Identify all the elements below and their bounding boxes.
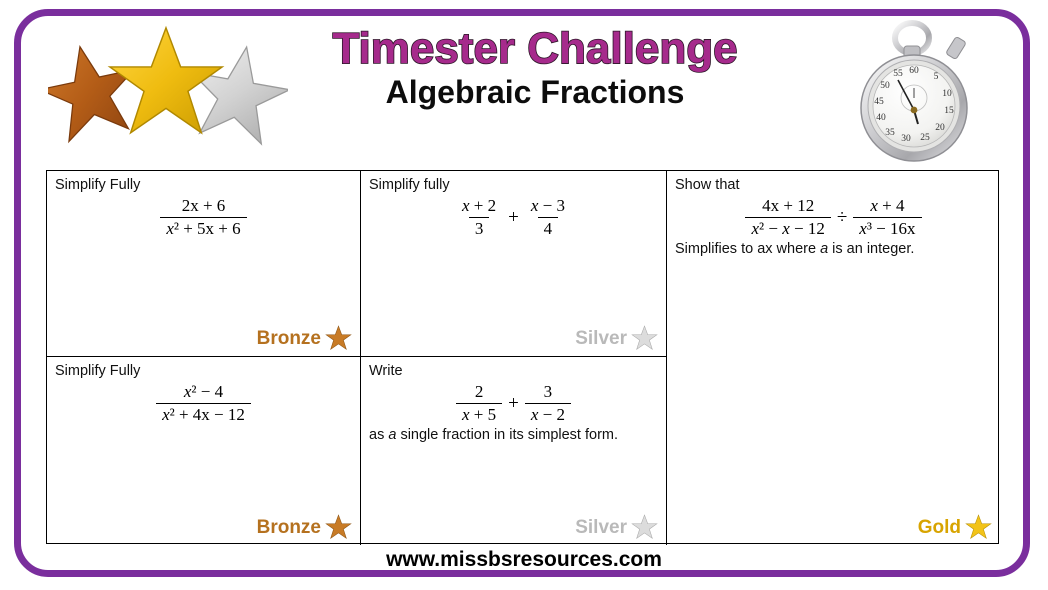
svg-text:30: 30 xyxy=(901,134,911,144)
worksheet-page: Timester Challenge Algebraic Fractions xyxy=(0,0,1048,590)
star-icon xyxy=(965,514,992,541)
operator: + xyxy=(508,207,519,229)
svg-text:5: 5 xyxy=(934,72,939,82)
fraction-denominator: x² + 5x + 6 xyxy=(160,217,246,239)
question-expression: x + 2 3 + x − 3 4 xyxy=(369,196,658,239)
fraction-denominator: x³ − 16x xyxy=(853,217,921,239)
question-expression: x² − 4 x² + 4x − 12 xyxy=(55,382,352,425)
svg-text:35: 35 xyxy=(885,128,895,138)
fraction-denominator: x² + 4x − 12 xyxy=(156,403,251,425)
question-grid: Simplify Fully 2x + 6 x² + 5x + 6 Bronze… xyxy=(46,170,999,544)
question-cell-q3[interactable]: Show that 4x + 12 x² − x − 12 ÷ x + 4 x³… xyxy=(667,171,1000,545)
status-badge-silver: Silver xyxy=(575,325,658,352)
question-prompt: Write xyxy=(369,363,658,380)
badge-label: Bronze xyxy=(257,518,321,537)
svg-text:10: 10 xyxy=(942,89,952,99)
question-cell-q4[interactable]: Simplify Fully x² − 4 x² + 4x − 12 Bronz… xyxy=(47,357,361,545)
svg-text:60: 60 xyxy=(909,66,919,76)
fraction-denominator: 3 xyxy=(469,217,490,239)
fraction-numerator: 2x + 6 xyxy=(176,196,232,217)
svg-text:25: 25 xyxy=(920,133,930,143)
question-prompt: Simplify Fully xyxy=(55,363,352,380)
page-title: Timester Challenge xyxy=(270,26,800,72)
fraction-denominator: 4 xyxy=(538,217,559,239)
website-url: www.missbsresources.com xyxy=(386,548,662,571)
svg-text:55: 55 xyxy=(893,69,903,79)
fraction-numerator: 2 xyxy=(469,382,490,403)
svg-text:20: 20 xyxy=(935,123,945,133)
question-prompt: Simplify fully xyxy=(369,177,658,194)
question-prompt-after: as a single fraction in its simplest for… xyxy=(369,427,658,444)
svg-text:40: 40 xyxy=(876,113,886,123)
badge-label: Bronze xyxy=(257,329,321,348)
status-badge-silver: Silver xyxy=(575,514,658,541)
question-prompt: Show that xyxy=(675,177,992,194)
svg-text:45: 45 xyxy=(874,97,884,107)
svg-text:15: 15 xyxy=(944,106,954,116)
question-cell-q5[interactable]: Write 2 x + 5 + 3 x − 2 as a single frac… xyxy=(361,357,667,545)
star-icon xyxy=(631,325,658,352)
star-icon xyxy=(325,325,352,352)
status-badge-bronze: Bronze xyxy=(257,325,352,352)
three-stars-icon xyxy=(48,24,288,154)
star-icon xyxy=(325,514,352,541)
title-block: Timester Challenge Algebraic Fractions xyxy=(270,26,800,110)
operator: ÷ xyxy=(837,207,847,229)
svg-text:50: 50 xyxy=(880,81,890,91)
stopwatch-icon: 60 5 10 15 20 25 30 35 40 45 50 55 xyxy=(848,18,988,168)
page-subtitle: Algebraic Fractions xyxy=(270,76,800,110)
fraction-numerator: 3 xyxy=(538,382,559,403)
question-cell-q1[interactable]: Simplify Fully 2x + 6 x² + 5x + 6 Bronze xyxy=(47,171,361,357)
question-expression: 4x + 12 x² − x − 12 ÷ x + 4 x³ − 16x xyxy=(675,196,992,239)
question-cell-q2[interactable]: Simplify fully x + 2 3 + x − 3 4 Silver xyxy=(361,171,667,357)
fraction-numerator: x + 2 xyxy=(456,196,502,217)
fraction-numerator: x − 3 xyxy=(525,196,571,217)
question-expression: 2x + 6 x² + 5x + 6 xyxy=(55,196,352,239)
badge-label: Silver xyxy=(575,329,627,348)
status-badge-bronze: Bronze xyxy=(257,514,352,541)
star-icon xyxy=(631,514,658,541)
footer: www.missbsresources.com xyxy=(0,548,1048,572)
status-badge-gold: Gold xyxy=(918,514,992,541)
badge-label: Silver xyxy=(575,518,627,537)
badge-label: Gold xyxy=(918,518,961,537)
fraction-numerator: x + 4 xyxy=(864,196,910,217)
operator: + xyxy=(508,393,519,415)
fraction-denominator: x + 5 xyxy=(456,403,502,425)
question-expression: 2 x + 5 + 3 x − 2 xyxy=(369,382,658,425)
header: Timester Challenge Algebraic Fractions xyxy=(30,16,1010,164)
fraction-numerator: 4x + 12 xyxy=(756,196,820,217)
question-prompt-after: Simplifies to ax where a is an integer. xyxy=(675,241,992,258)
fraction-denominator: x² − x − 12 xyxy=(745,217,830,239)
fraction-numerator: x² − 4 xyxy=(178,382,229,403)
question-prompt: Simplify Fully xyxy=(55,177,352,194)
fraction-denominator: x − 2 xyxy=(525,403,571,425)
